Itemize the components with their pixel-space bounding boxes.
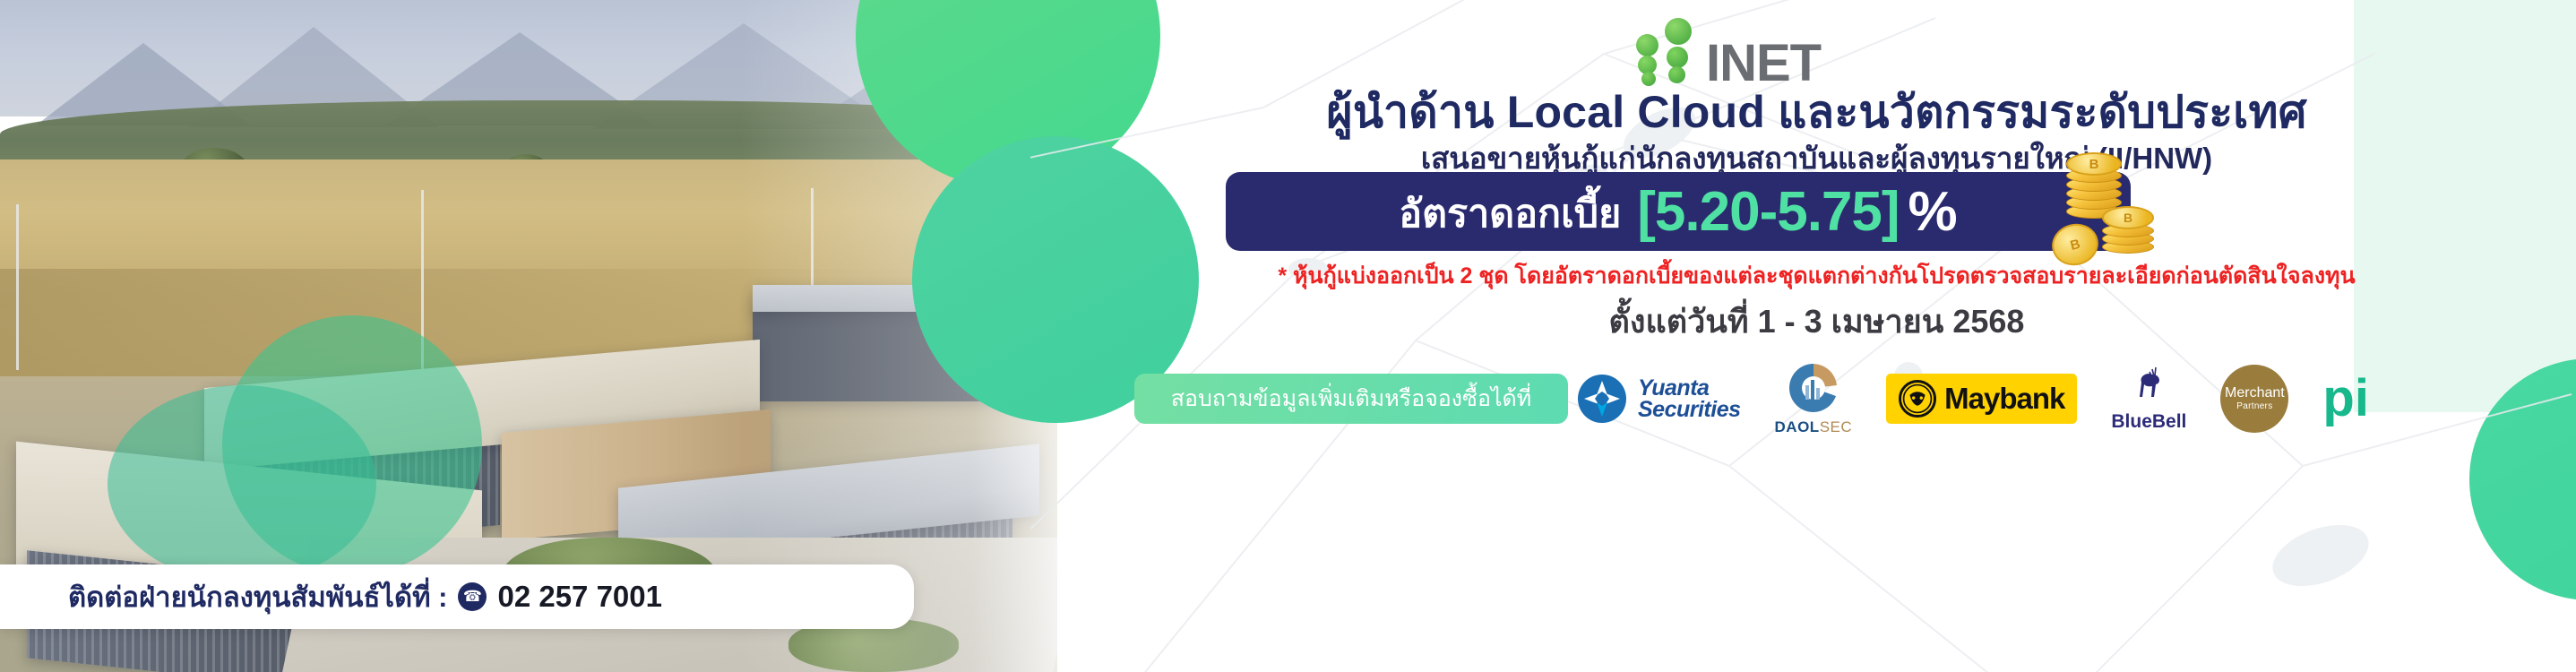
inet-dots-logo-icon bbox=[1631, 18, 1697, 86]
yuanta-wordmark: Yuanta Securities bbox=[1638, 377, 1741, 420]
contact-phone-number[interactable]: 02 257 7001 bbox=[497, 580, 662, 614]
green-accent-ellipse bbox=[108, 385, 376, 582]
contact-label: ติดต่อฝ่ายนักลงทุนสัมพันธ์ได้ที่ : bbox=[68, 574, 447, 619]
maybank-wordmark: Maybank bbox=[1944, 382, 2064, 416]
phone-icon: ☎ bbox=[458, 582, 487, 611]
partner-logo-maybank[interactable]: Maybank bbox=[1886, 374, 2077, 424]
yuanta-line1: Yuanta bbox=[1638, 377, 1741, 399]
gold-coin-stack-icon: B B B bbox=[2046, 151, 2172, 269]
interest-rate-percent-sign: % bbox=[1908, 180, 1958, 244]
interest-rate-section: อัตราดอกเบี้ย [5.20-5.75] % B B bbox=[1226, 172, 2167, 251]
investor-relations-contact-box: ติดต่อฝ่ายนักลงทุนสัมพันธ์ได้ที่ : ☎ 02 … bbox=[0, 564, 914, 629]
daol-wordmark: DAOLSEC bbox=[1775, 418, 1853, 436]
yuanta-star-icon bbox=[1577, 374, 1627, 424]
daol-pie-icon bbox=[1788, 362, 1839, 414]
bluebell-deer-icon bbox=[2125, 366, 2172, 409]
inquiry-cta-button[interactable]: สอบถามข้อมูลเพิ่มเติมหรือจองซื้อได้ที่ bbox=[1134, 374, 1568, 424]
inet-logo: INET bbox=[1631, 16, 1935, 86]
interest-rate-value: [5.20-5.75] bbox=[1637, 180, 1899, 244]
pi-wordmark-icon: pi bbox=[2322, 378, 2369, 419]
partner-logo-daol[interactable]: DAOLSEC bbox=[1775, 362, 1853, 436]
partner-logo-row: Yuanta Securities DAOLSEC bbox=[1577, 358, 2518, 439]
offering-date-range: ตั้งแต่วันที่ 1 - 3 เมษายน 2568 bbox=[1057, 296, 2576, 347]
partner-logo-merchant-partners[interactable]: Merchant Partners bbox=[2220, 365, 2288, 433]
offering-disclaimer: * หุ้นกู้แบ่งออกเป็น 2 ชุด โดยอัตราดอกเบ… bbox=[1057, 258, 2576, 294]
inet-bond-offering-banner: INET ผู้นำด้าน Local Cloud และนวัตกรรมระ… bbox=[0, 0, 2576, 672]
content-column: INET ผู้นำด้าน Local Cloud และนวัตกรรมระ… bbox=[1057, 0, 2576, 672]
daol-main: DAOL bbox=[1775, 418, 1820, 435]
maybank-tiger-icon bbox=[1899, 380, 1936, 418]
partner-logo-yuanta[interactable]: Yuanta Securities bbox=[1577, 374, 1741, 424]
interest-rate-badge: อัตราดอกเบี้ย [5.20-5.75] % bbox=[1226, 172, 2131, 251]
interest-rate-label: อัตราดอกเบี้ย bbox=[1399, 183, 1621, 244]
partner-logo-bluebell[interactable]: BlueBell bbox=[2111, 366, 2186, 433]
yuanta-line2: Securities bbox=[1638, 399, 1741, 420]
contact-inner: ติดต่อฝ่ายนักลงทุนสัมพันธ์ได้ที่ : ☎ 02 … bbox=[68, 574, 662, 619]
partner-logo-pi[interactable]: pi bbox=[2322, 378, 2369, 419]
merchant-line2: Partners bbox=[2236, 401, 2272, 411]
bluebell-wordmark: BlueBell bbox=[2111, 411, 2186, 433]
merchant-line1: Merchant bbox=[2225, 386, 2285, 401]
daol-sub: SEC bbox=[1820, 418, 1852, 435]
